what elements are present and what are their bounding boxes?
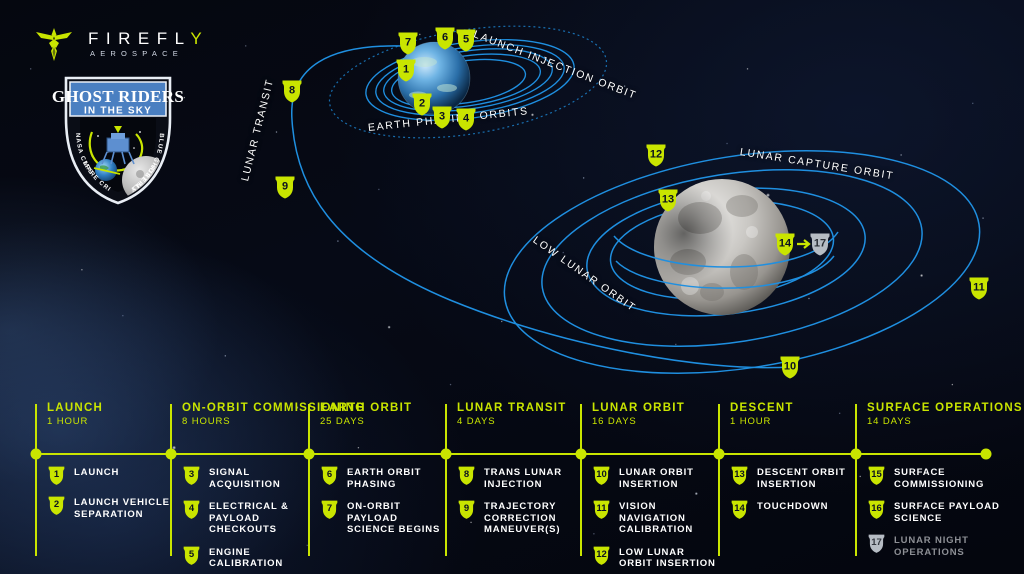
diagram-marker-12[interactable]: 12 xyxy=(645,143,668,168)
diagram-marker-number: 14 xyxy=(779,238,791,250)
phase-item-list: 10LUNAR ORBIT INSERTION11VISION NAVIGATI… xyxy=(592,464,718,574)
timeline-item-15[interactable]: 15SURFACE COMMISSIONING xyxy=(867,464,1015,490)
timeline-item-6[interactable]: 6EARTH ORBIT PHASING xyxy=(320,464,445,490)
timeline-item-label: ELECTRICAL & PAYLOAD CHECKOUTS xyxy=(209,498,308,536)
diagram-marker-14[interactable]: 14 xyxy=(774,232,797,257)
timeline-badge-number: 16 xyxy=(871,504,882,515)
timeline-phase-on-orbit-commissioning[interactable]: ON-ORBIT COMMISSIONING8 HOURS3SIGNAL ACQ… xyxy=(170,398,308,574)
timeline-node-lunar-orbit[interactable] xyxy=(576,449,587,460)
timeline-badge-16: 16 xyxy=(867,499,886,520)
timeline-node-surface-operations[interactable] xyxy=(851,449,862,460)
timeline-badge-12: 12 xyxy=(592,545,611,566)
phase-divider-line xyxy=(308,404,310,556)
timeline-item-label: SURFACE PAYLOAD SCIENCE xyxy=(894,498,1015,524)
diagram-marker-4[interactable]: 4 xyxy=(455,107,478,132)
timeline-badge-14: 14 xyxy=(730,499,749,520)
timeline-item-8[interactable]: 8TRANS LUNAR INJECTION xyxy=(457,464,580,490)
diagram-marker-17[interactable]: 17 xyxy=(809,232,832,257)
diagram-marker-6[interactable]: 6 xyxy=(434,26,457,51)
phase-item-list: 6EARTH ORBIT PHASING7ON-ORBIT PAYLOAD SC… xyxy=(320,464,445,544)
timeline-phase-lunar-orbit[interactable]: LUNAR ORBIT16 DAYS10LUNAR ORBIT INSERTIO… xyxy=(580,398,718,574)
timeline-item-label: TRANS LUNAR INJECTION xyxy=(484,464,580,490)
timeline-badge-number: 15 xyxy=(871,470,882,481)
phase-item-list: 1LAUNCH2LAUNCH VEHICLE SEPARATION xyxy=(47,464,170,528)
timeline-item-label: ENGINE CALIBRATION xyxy=(209,544,308,570)
timeline-badge-number: 4 xyxy=(189,504,194,515)
phase-item-list: 15SURFACE COMMISSIONING16SURFACE PAYLOAD… xyxy=(867,464,1015,566)
timeline-node-earth-orbit[interactable] xyxy=(304,449,315,460)
diagram-marker-number: 1 xyxy=(403,64,409,76)
diagram-marker-number: 9 xyxy=(282,181,288,193)
timeline-badge-number: 14 xyxy=(734,504,745,515)
timeline-badge-11: 11 xyxy=(592,499,611,520)
diagram-marker-number: 7 xyxy=(405,37,411,49)
timeline-node-descent[interactable] xyxy=(714,449,725,460)
timeline-item-10[interactable]: 10LUNAR ORBIT INSERTION xyxy=(592,464,718,490)
timeline-item-label: TRAJECTORY CORRECTION MANEUVER(S) xyxy=(484,498,580,536)
timeline-badge-10: 10 xyxy=(592,465,611,486)
timeline-badge-2: 2 xyxy=(47,495,66,516)
diagram-marker-number: 8 xyxy=(289,85,295,97)
timeline-end-node xyxy=(981,449,992,460)
timeline-badge-8: 8 xyxy=(457,465,476,486)
timeline-item-11[interactable]: 11VISION NAVIGATION CALIBRATION xyxy=(592,498,718,536)
phase-divider-line xyxy=(445,404,447,556)
timeline-badge-number: 5 xyxy=(189,550,194,561)
timeline-item-label: EARTH ORBIT PHASING xyxy=(347,464,445,490)
diagram-marker-number: 13 xyxy=(662,194,674,206)
timeline-item-label: LAUNCH xyxy=(74,464,119,479)
timeline-badge-number: 9 xyxy=(464,504,469,515)
phase-header: EARTH ORBIT25 DAYS xyxy=(320,402,412,428)
timeline-badge-3: 3 xyxy=(182,465,201,486)
timeline-badge-4: 4 xyxy=(182,499,201,520)
timeline-badge-5: 5 xyxy=(182,545,201,566)
diagram-marker-number: 11 xyxy=(973,282,985,294)
timeline-badge-9: 9 xyxy=(457,499,476,520)
mission-timeline: LAUNCH1 HOUR1LAUNCH2LAUNCH VEHICLE SEPAR… xyxy=(0,398,1024,574)
timeline-item-7[interactable]: 7ON-ORBIT PAYLOAD SCIENCE BEGINS xyxy=(320,498,445,536)
diagram-marker-11[interactable]: 11 xyxy=(968,276,991,301)
timeline-badge-number: 2 xyxy=(54,500,59,511)
phase-title: SURFACE OPERATIONS xyxy=(867,402,1023,415)
timeline-badge-7: 7 xyxy=(320,499,339,520)
timeline-badge-17: 17 xyxy=(867,533,886,554)
timeline-badge-number: 7 xyxy=(327,504,332,515)
phase-duration: 25 DAYS xyxy=(320,416,412,428)
timeline-item-2[interactable]: 2LAUNCH VEHICLE SEPARATION xyxy=(47,494,170,520)
timeline-item-5[interactable]: 5ENGINE CALIBRATION xyxy=(182,544,308,570)
timeline-item-label: SURFACE COMMISSIONING xyxy=(894,464,1015,490)
timeline-badge-15: 15 xyxy=(867,465,886,486)
phase-duration: 14 DAYS xyxy=(867,416,1023,428)
timeline-badge-13: 13 xyxy=(730,465,749,486)
phase-divider-line xyxy=(718,404,720,556)
timeline-badge-number: 1 xyxy=(54,470,59,481)
phase-item-list: 8TRANS LUNAR INJECTION9TRAJECTORY CORREC… xyxy=(457,464,580,544)
timeline-node-on-orbit-commissioning[interactable] xyxy=(166,449,177,460)
timeline-item-label: LUNAR ORBIT INSERTION xyxy=(619,464,718,490)
timeline-badge-number: 8 xyxy=(464,470,469,481)
phase-header: SURFACE OPERATIONS14 DAYS xyxy=(867,402,1023,428)
timeline-badge-1: 1 xyxy=(47,465,66,486)
timeline-badge-number: 10 xyxy=(596,470,607,481)
timeline-phase-launch[interactable]: LAUNCH1 HOUR1LAUNCH2LAUNCH VEHICLE SEPAR… xyxy=(35,398,170,574)
timeline-badge-number: 12 xyxy=(596,550,607,561)
diagram-marker-number: 12 xyxy=(650,149,662,161)
timeline-badge-6: 6 xyxy=(320,465,339,486)
timeline-phase-lunar-transit[interactable]: LUNAR TRANSIT4 DAYS8TRANS LUNAR INJECTIO… xyxy=(445,398,580,574)
phase-duration: 1 HOUR xyxy=(47,416,103,428)
diagram-marker-1[interactable]: 1 xyxy=(395,58,418,83)
timeline-badge-number: 17 xyxy=(871,538,882,549)
timeline-phase-descent[interactable]: DESCENT1 HOUR13DESCENT ORBIT INSERTION14… xyxy=(718,398,855,574)
diagram-marker-number: 5 xyxy=(463,34,469,46)
phase-divider-line xyxy=(855,404,857,556)
timeline-item-label: LOW LUNAR ORBIT INSERTION xyxy=(619,544,718,570)
diagram-marker-number: 2 xyxy=(419,98,425,110)
timeline-item-13[interactable]: 13DESCENT ORBIT INSERTION xyxy=(730,464,855,490)
diagram-marker-number: 3 xyxy=(439,111,445,123)
diagram-marker-13[interactable]: 13 xyxy=(657,188,680,213)
timeline-phase-earth-orbit[interactable]: EARTH ORBIT25 DAYS6EARTH ORBIT PHASING7O… xyxy=(308,398,445,574)
phase-header: LUNAR TRANSIT4 DAYS xyxy=(457,402,567,428)
phase-title: EARTH ORBIT xyxy=(320,402,412,415)
timeline-item-3[interactable]: 3SIGNAL ACQUISITION xyxy=(182,464,308,490)
timeline-item-14[interactable]: 14TOUCHDOWN xyxy=(730,498,855,520)
timeline-item-label: VISION NAVIGATION CALIBRATION xyxy=(619,498,718,536)
diagram-marker-number: 10 xyxy=(784,361,796,373)
timeline-item-16[interactable]: 16SURFACE PAYLOAD SCIENCE xyxy=(867,498,1015,524)
phase-title: LUNAR TRANSIT xyxy=(457,402,567,415)
diagram-marker-9[interactable]: 9 xyxy=(274,175,297,200)
timeline-node-lunar-transit[interactable] xyxy=(441,449,452,460)
phase-header: LUNAR ORBIT16 DAYS xyxy=(592,402,685,428)
timeline-item-label: TOUCHDOWN xyxy=(757,498,828,513)
timeline-item-label: LUNAR NIGHT OPERATIONS xyxy=(894,532,1015,558)
timeline-item-label: ON-ORBIT PAYLOAD SCIENCE BEGINS xyxy=(347,498,445,536)
phase-title: LAUNCH xyxy=(47,402,103,415)
phase-divider-line xyxy=(170,404,172,556)
timeline-node-launch[interactable] xyxy=(31,449,42,460)
phase-divider-line xyxy=(35,404,37,556)
timeline-badge-number: 13 xyxy=(734,470,745,481)
timeline-badge-number: 6 xyxy=(327,470,332,481)
timeline-item-12[interactable]: 12LOW LUNAR ORBIT INSERTION xyxy=(592,544,718,570)
phase-divider-line xyxy=(580,404,582,556)
phase-item-list: 13DESCENT ORBIT INSERTION14TOUCHDOWN xyxy=(730,464,855,528)
phase-duration: 4 DAYS xyxy=(457,416,567,428)
diagram-marker-3[interactable]: 3 xyxy=(431,105,454,130)
timeline-badge-number: 11 xyxy=(596,504,606,515)
diagram-marker-10[interactable]: 10 xyxy=(779,355,802,380)
diagram-marker-5[interactable]: 5 xyxy=(455,28,478,53)
timeline-item-9[interactable]: 9TRAJECTORY CORRECTION MANEUVER(S) xyxy=(457,498,580,536)
phase-item-list: 3SIGNAL ACQUISITION4ELECTRICAL & PAYLOAD… xyxy=(182,464,308,574)
diagram-marker-7[interactable]: 7 xyxy=(397,31,420,56)
phase-header: DESCENT1 HOUR xyxy=(730,402,794,428)
diagram-marker-number: 17 xyxy=(814,238,826,250)
timeline-item-label: DESCENT ORBIT INSERTION xyxy=(757,464,855,490)
timeline-badge-number: 3 xyxy=(189,470,194,481)
infographic-canvas: FIREFLY AEROSPACE GHOST RIDERS IN THE SK… xyxy=(0,0,1024,574)
diagram-marker-8[interactable]: 8 xyxy=(281,79,304,104)
phase-duration: 1 HOUR xyxy=(730,416,794,428)
phase-duration: 16 DAYS xyxy=(592,416,685,428)
diagram-marker-number: 6 xyxy=(442,32,448,44)
timeline-item-1[interactable]: 1LAUNCH xyxy=(47,464,170,486)
phase-title: LUNAR ORBIT xyxy=(592,402,685,415)
mission-trajectory-diagram xyxy=(0,0,1024,400)
phase-header: LAUNCH1 HOUR xyxy=(47,402,103,428)
timeline-item-label: SIGNAL ACQUISITION xyxy=(209,464,308,490)
timeline-item-17[interactable]: 17LUNAR NIGHT OPERATIONS xyxy=(867,532,1015,558)
timeline-phase-surface-operations[interactable]: SURFACE OPERATIONS14 DAYS15SURFACE COMMI… xyxy=(855,398,1015,574)
timeline-item-4[interactable]: 4ELECTRICAL & PAYLOAD CHECKOUTS xyxy=(182,498,308,536)
timeline-item-label: LAUNCH VEHICLE SEPARATION xyxy=(74,494,170,520)
diagram-marker-number: 4 xyxy=(463,113,469,125)
phase-title: DESCENT xyxy=(730,402,794,415)
